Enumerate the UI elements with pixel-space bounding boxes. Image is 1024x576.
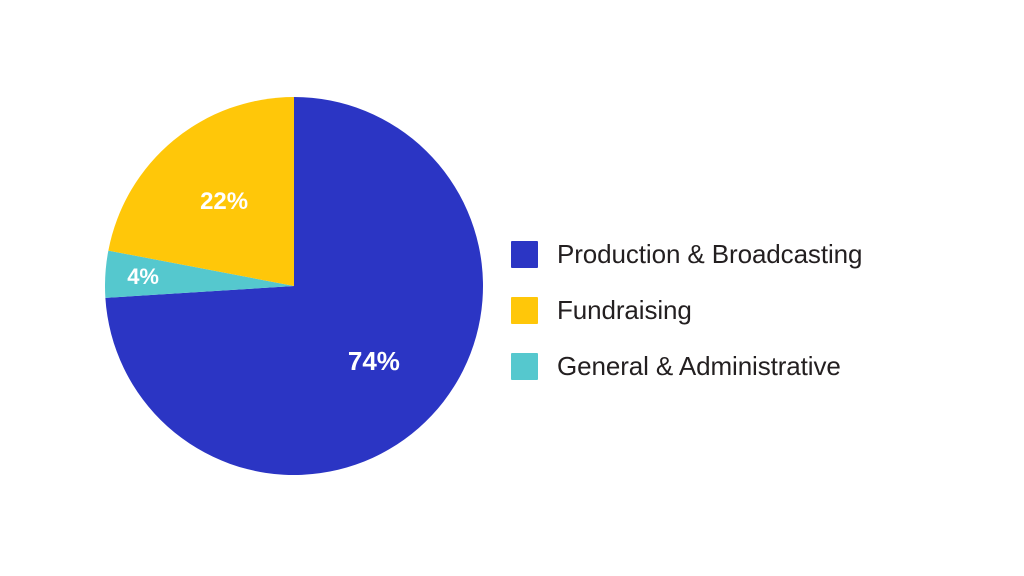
legend-swatch-icon-fundraising (511, 297, 538, 324)
pie-label-production-broadcasting: 74% (348, 346, 400, 376)
pie-label-general-administrative: 4% (127, 264, 159, 289)
chart-legend: Production & Broadcasting Fundraising Ge… (511, 226, 981, 394)
legend-label-fundraising: Fundraising (557, 295, 692, 326)
pie-chart-plot-area: 74% 22% 4% (105, 97, 483, 475)
pie-slices (105, 97, 483, 475)
pie-chart-figure: 74% 22% 4% Production & Broadcasting Fun… (0, 0, 1024, 576)
legend-item-production-broadcasting[interactable]: Production & Broadcasting (511, 226, 981, 282)
legend-item-fundraising[interactable]: Fundraising (511, 282, 981, 338)
pie-label-fundraising: 22% (200, 188, 248, 215)
legend-item-general-administrative[interactable]: General & Administrative (511, 338, 981, 394)
legend-label-general-administrative: General & Administrative (557, 351, 841, 382)
pie-svg: 74% 22% 4% (105, 97, 483, 475)
legend-label-production-broadcasting: Production & Broadcasting (557, 239, 862, 270)
legend-swatch-icon-general-administrative (511, 353, 538, 380)
legend-swatch-icon-production-broadcasting (511, 241, 538, 268)
